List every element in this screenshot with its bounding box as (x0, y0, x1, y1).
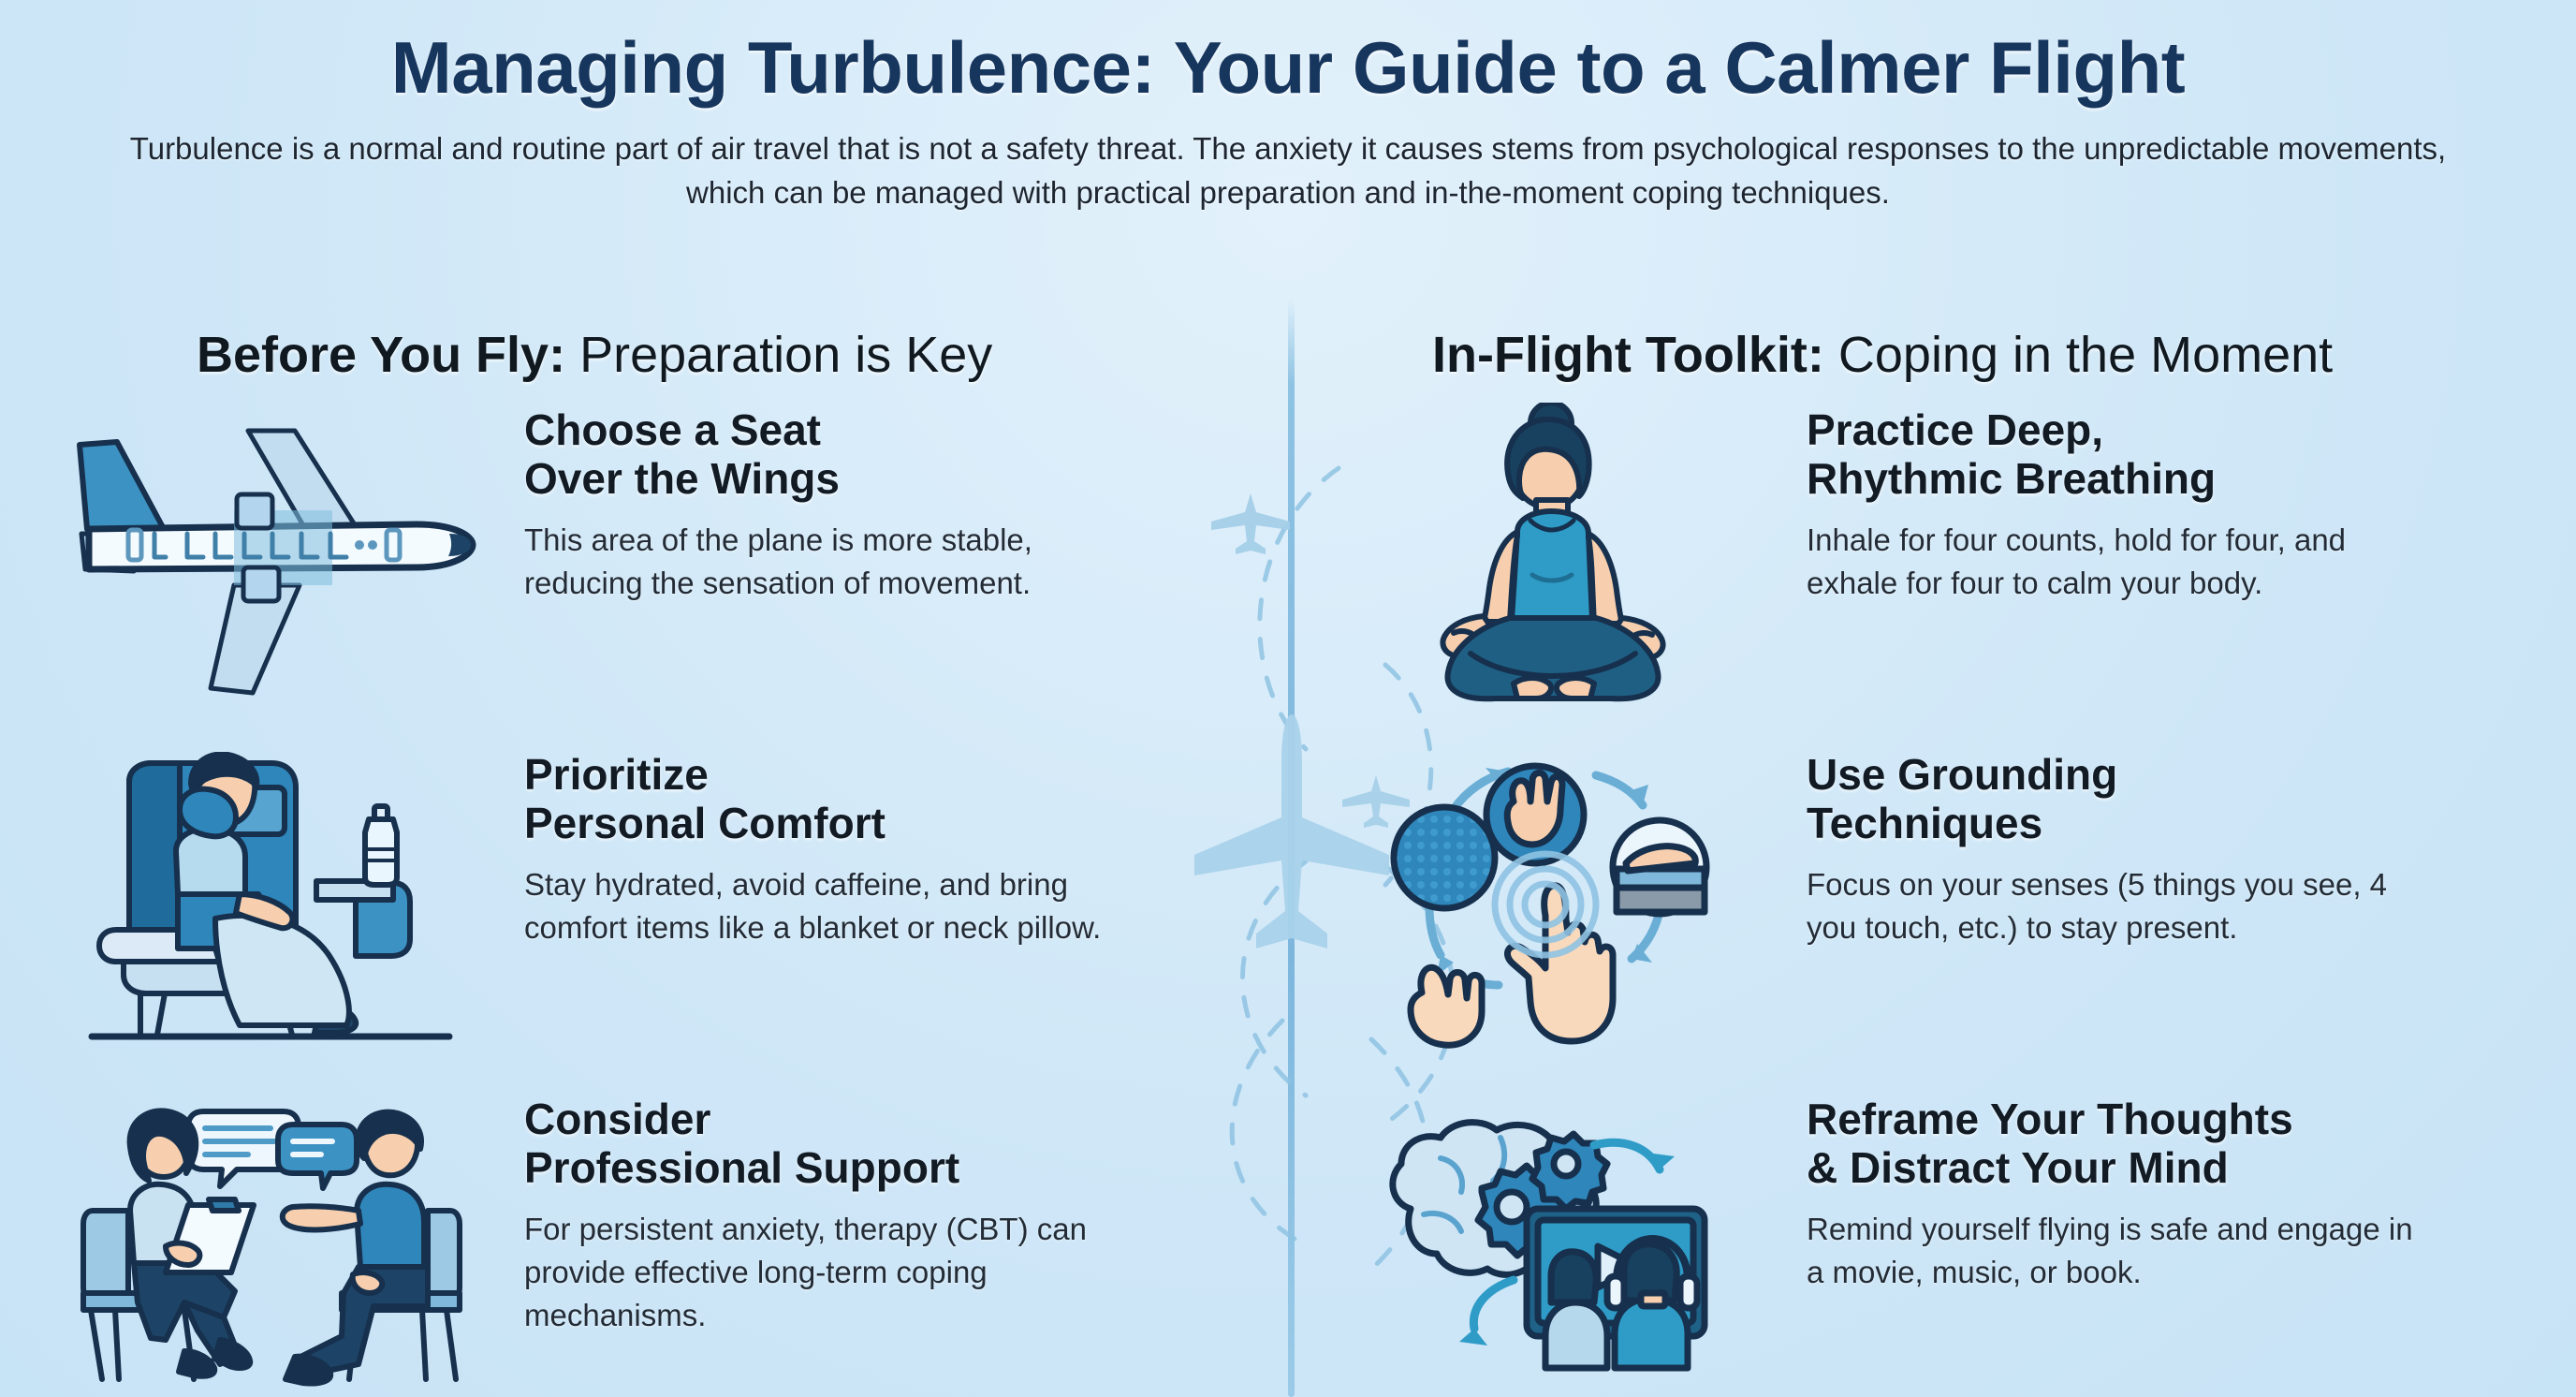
grounding-touch-senses-icon (1310, 747, 1797, 1056)
list-item-heading: Consider Professional Support (524, 1096, 1236, 1193)
heading-line-1: Consider (524, 1095, 710, 1143)
heading-line-1: Use Grounding (1807, 750, 2117, 799)
list-item-body: Remind yourself flying is safe and engag… (1807, 1208, 2424, 1294)
list-item-body: Inhale for four counts, hold for four, a… (1807, 519, 2424, 605)
airplane-seating-diagram-icon (28, 403, 515, 712)
list-item-text: Reframe Your Thoughts & Distract Your Mi… (1797, 1092, 2518, 1397)
heading-line-1: Practice Deep, (1807, 405, 2103, 454)
list-item: Prioritize Personal Comfort Stay hydrate… (28, 747, 1236, 1077)
list-item: Consider Professional Support For persis… (28, 1092, 1236, 1397)
heading-line-1: Reframe Your Thoughts (1807, 1095, 2293, 1143)
page-subtitle: Turbulence is a normal and routine part … (127, 127, 2449, 215)
vertical-divider (1288, 298, 1295, 1397)
list-item-body: For persistent anxiety, therapy (CBT) ca… (524, 1208, 1142, 1338)
therapy-session-icon (28, 1092, 515, 1397)
infographic-page: Managing Turbulence: Your Guide to a Cal… (0, 0, 2576, 1397)
column-header-right-normal: Coping in the Moment (1824, 327, 2333, 383)
heading-line-2: Professional Support (524, 1143, 959, 1192)
heading-line-1: Prioritize (524, 750, 709, 799)
list-item-text: Prioritize Personal Comfort Stay hydrate… (515, 747, 1236, 1077)
list-item: Choose a Seat Over the Wings This area o… (28, 403, 1236, 732)
list-item-heading: Reframe Your Thoughts & Distract Your Mi… (1807, 1096, 2518, 1193)
seated-passenger-comfort-icon (28, 747, 515, 1056)
list-item-text: Practice Deep, Rhythmic Breathing Inhale… (1797, 403, 2518, 732)
heading-line-2: Rhythmic Breathing (1807, 454, 2216, 503)
column-header-left-normal: Preparation is Key (565, 327, 992, 383)
page-title: Managing Turbulence: Your Guide to a Cal… (0, 28, 2576, 107)
heading-line-2: Techniques (1807, 799, 2042, 847)
heading-line-2: Over the Wings (524, 454, 840, 503)
list-item-heading: Choose a Seat Over the Wings (524, 406, 1236, 504)
list-item-text: Choose a Seat Over the Wings This area o… (515, 403, 1236, 732)
column-header-right-bold: In-Flight Toolkit: (1432, 327, 1824, 383)
header: Managing Turbulence: Your Guide to a Cal… (0, 28, 2576, 215)
list-item-text: Consider Professional Support For persis… (515, 1092, 1236, 1397)
list-item-body: Focus on your senses (5 things you see, … (1807, 863, 2424, 949)
list-item-heading: Use Grounding Techniques (1807, 751, 2518, 848)
heading-line-1: Choose a Seat (524, 405, 821, 454)
list-item: Reframe Your Thoughts & Distract Your Mi… (1310, 1092, 2518, 1397)
list-item-body: Stay hydrated, avoid caffeine, and bring… (524, 863, 1142, 949)
column-right: Practice Deep, Rhythmic Breathing Inhale… (1310, 403, 2518, 1397)
column-header-left: Before You Fly: Preparation is Key (197, 330, 992, 380)
list-item: Use Grounding Techniques Focus on your s… (1310, 747, 2518, 1077)
heading-line-2: & Distract Your Mind (1807, 1143, 2229, 1192)
brain-gears-media-screen-icon (1310, 1092, 1797, 1397)
list-item-text: Use Grounding Techniques Focus on your s… (1797, 747, 2518, 1077)
list-item-heading: Practice Deep, Rhythmic Breathing (1807, 406, 2518, 504)
list-item: Practice Deep, Rhythmic Breathing Inhale… (1310, 403, 2518, 732)
column-header-left-bold: Before You Fly: (197, 327, 565, 383)
list-item-heading: Prioritize Personal Comfort (524, 751, 1236, 848)
column-left: Choose a Seat Over the Wings This area o… (28, 403, 1236, 1397)
list-item-body: This area of the plane is more stable, r… (524, 519, 1142, 605)
heading-line-2: Personal Comfort (524, 799, 885, 847)
column-header-right: In-Flight Toolkit: Coping in the Moment (1432, 330, 2333, 380)
meditating-person-icon (1310, 403, 1797, 712)
